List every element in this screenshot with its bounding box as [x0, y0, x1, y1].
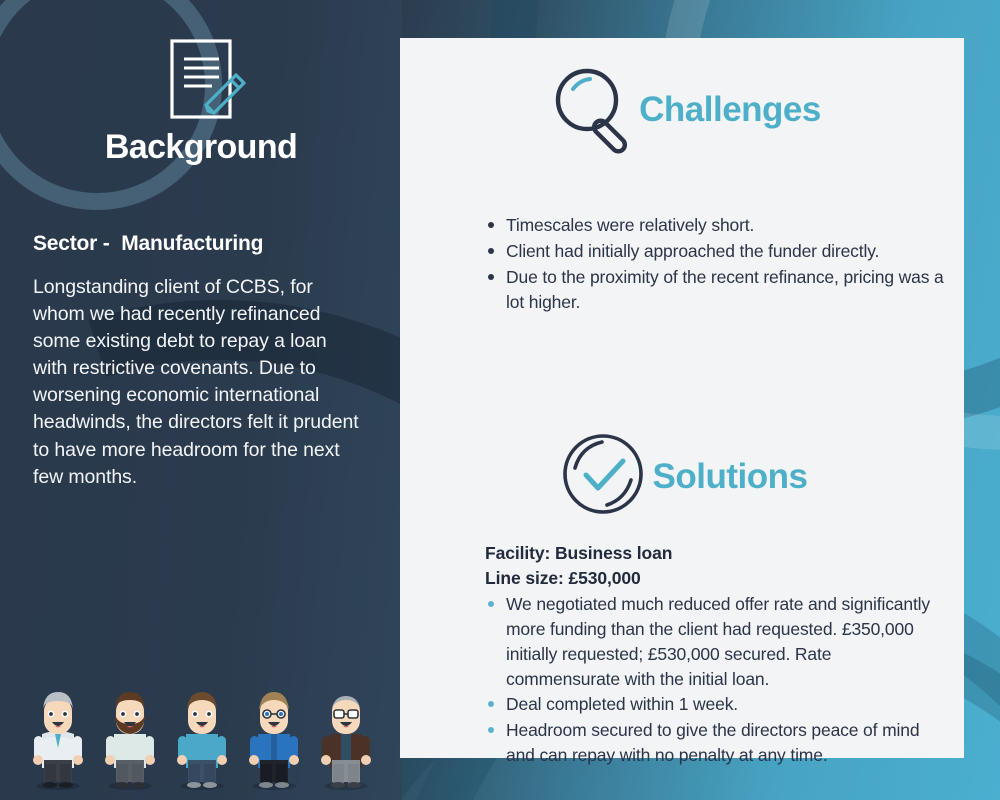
challenges-header: Challenges: [400, 58, 964, 161]
list-item: Deal completed within 1 week.: [484, 692, 949, 717]
list-item: Headroom secured to give the directors p…: [484, 718, 949, 768]
person-3: [177, 692, 227, 790]
line-size-line: Line size: £530,000: [485, 566, 672, 591]
sector-line: Sector - Manufacturing: [33, 232, 263, 256]
sector-value: Manufacturing: [121, 232, 263, 255]
infographic-canvas: Background Sector - Manufacturing Longst…: [0, 0, 1000, 800]
solutions-title: Solutions: [653, 457, 808, 497]
list-item: Timescales were relatively short.: [484, 213, 944, 238]
magnifying-glass-icon: [543, 58, 641, 161]
person-2: [105, 692, 155, 790]
list-item: Due to the proximity of the recent refin…: [484, 265, 944, 315]
list-item: Client had initially approached the fund…: [484, 239, 944, 264]
sector-label: Sector -: [33, 232, 110, 255]
background-body-text: Longstanding client of CCBS, for whom we…: [33, 274, 363, 491]
list-item: We negotiated much reduced offer rate an…: [484, 592, 949, 691]
person-1: [33, 692, 83, 790]
five-business-people-illustration: [22, 664, 382, 794]
facility-line: Facility: Business loan: [485, 541, 672, 566]
page-title: Background: [0, 128, 402, 167]
solutions-header: Solutions: [400, 428, 964, 525]
check-circle-icon: [557, 428, 649, 525]
person-5: [321, 696, 371, 790]
document-with-pencil-icon: [164, 35, 256, 127]
person-4: [249, 692, 299, 790]
background-section: Background Sector - Manufacturing Longst…: [0, 0, 402, 800]
solutions-bullet-list: We negotiated much reduced offer rate an…: [484, 592, 949, 769]
facility-details: Facility: Business loan Line size: £530,…: [485, 541, 672, 591]
challenges-bullet-list: Timescales were relatively short. Client…: [484, 213, 944, 315]
challenges-title: Challenges: [639, 90, 821, 130]
content-card: Challenges Timescales were relatively sh…: [400, 38, 964, 758]
